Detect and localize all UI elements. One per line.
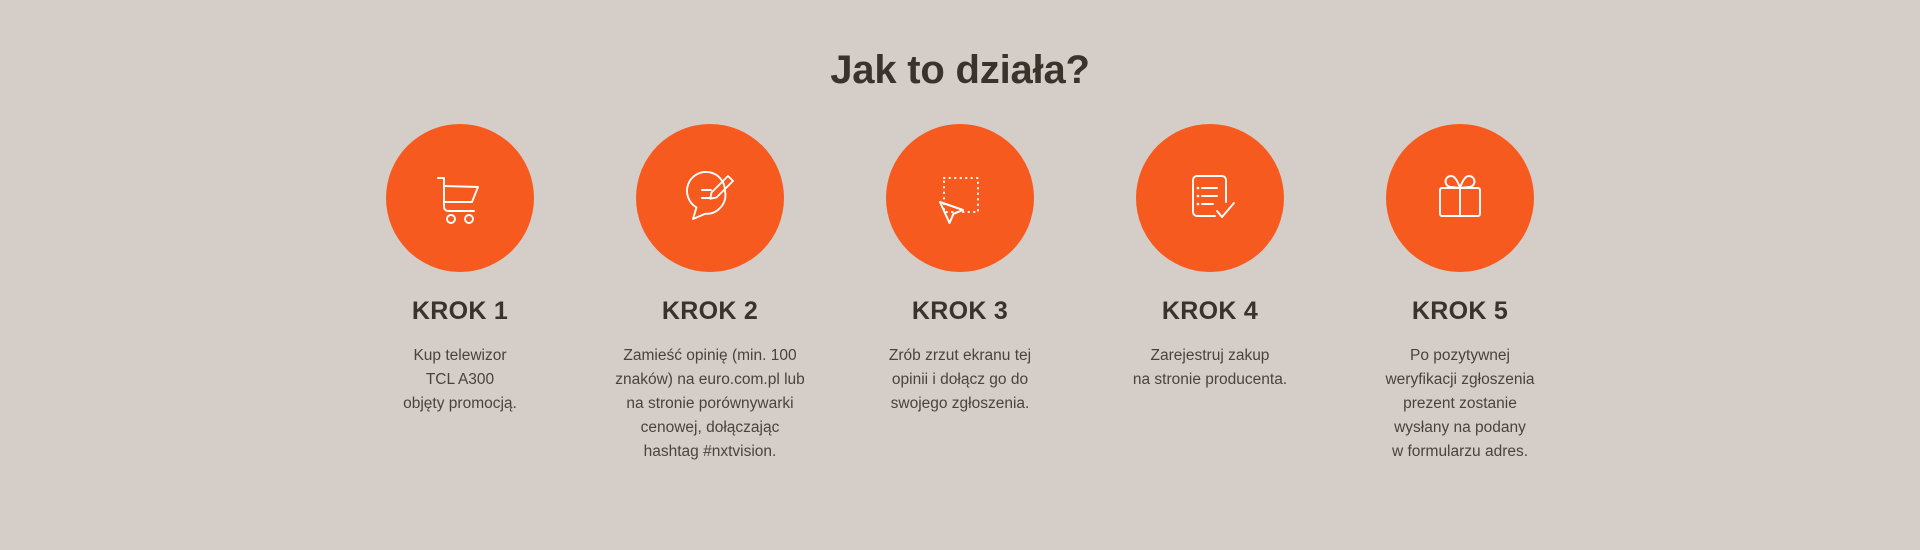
step-item-5: KROK 5 Po pozytywnej weryfikacji zgłosze…	[1335, 124, 1585, 464]
screenshot-selection-cursor-icon	[928, 166, 992, 230]
step-title-5: KROK 5	[1412, 272, 1508, 326]
steps-row: KROK 1 Kup telewizor TCL A300 objęty pro…	[180, 124, 1740, 464]
gift-box-icon	[1428, 166, 1492, 230]
step-description-4: Zarejestruj zakup na stronie producenta.	[1133, 326, 1287, 392]
step-description-5: Po pozytywnej weryfikacji zgłoszenia pre…	[1385, 326, 1534, 464]
review-speech-bubble-pencil-icon	[678, 166, 742, 230]
step-description-1: Kup telewizor TCL A300 objęty promocją.	[403, 326, 517, 416]
step-icon-badge-4	[1136, 124, 1284, 272]
step-title-3: KROK 3	[912, 272, 1008, 326]
step-icon-badge-1	[386, 124, 534, 272]
step-item-3: KROK 3 Zrób zrzut ekranu tej opinii i do…	[835, 124, 1085, 416]
step-icon-badge-5	[1386, 124, 1534, 272]
step-icon-badge-3	[886, 124, 1034, 272]
step-title-4: KROK 4	[1162, 272, 1258, 326]
step-description-3: Zrób zrzut ekranu tej opinii i dołącz go…	[889, 326, 1031, 416]
step-title-2: KROK 2	[662, 272, 758, 326]
step-icon-badge-2	[636, 124, 784, 272]
page-title: Jak to działa?	[830, 0, 1090, 92]
document-checklist-check-icon	[1178, 166, 1242, 230]
how-it-works-section: Jak to działa? KROK 1 Kup telewizor TCL …	[0, 0, 1920, 550]
step-title-1: KROK 1	[412, 272, 508, 326]
step-description-2: Zamieść opinię (min. 100 znaków) na euro…	[615, 326, 805, 464]
step-item-1: KROK 1 Kup telewizor TCL A300 objęty pro…	[335, 124, 585, 416]
step-item-2: KROK 2 Zamieść opinię (min. 100 znaków) …	[585, 124, 835, 464]
shopping-cart-icon	[428, 166, 492, 230]
step-item-4: KROK 4 Zarejestruj zakup na stronie prod…	[1085, 124, 1335, 392]
